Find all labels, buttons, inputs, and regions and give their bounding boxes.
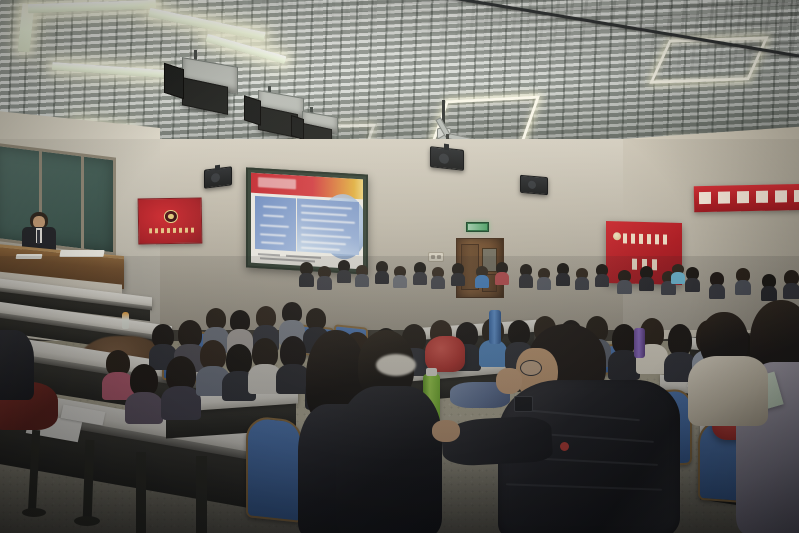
lecture-hall-photograph: 商学院 谁是投资帝 xyxy=(0,0,799,533)
stage-spotlight xyxy=(164,58,242,118)
foreground-man-in-black-puffer-jacket xyxy=(450,318,680,533)
fixed-auditorium-chair[interactable] xyxy=(246,415,302,523)
wall-mounted-loudspeaker xyxy=(430,146,464,171)
hand xyxy=(496,368,522,394)
foreground-student-dark-shoulder xyxy=(0,330,34,400)
emergency-exit-sign xyxy=(466,222,489,232)
wall-mounted-loudspeaker xyxy=(204,166,232,188)
hand xyxy=(432,420,460,442)
jacket-logo-patch xyxy=(560,442,569,451)
slogan-banner: 谁是投资帝 xyxy=(694,184,799,212)
side-flag-banner xyxy=(138,197,203,244)
desk-leg-foot xyxy=(74,516,100,526)
wristwatch xyxy=(514,396,533,412)
wall-mounted-loudspeaker xyxy=(520,175,548,195)
foreground-student-fur-collar xyxy=(340,330,436,533)
desk-leg-foot xyxy=(22,508,46,517)
desk-leg xyxy=(136,452,146,533)
slogan-banner-text-row xyxy=(699,189,799,203)
slide-table-left-column xyxy=(255,196,295,251)
slide-table-right-column xyxy=(297,199,359,255)
arm xyxy=(441,415,553,467)
eyeglasses xyxy=(520,360,542,376)
desk-leg xyxy=(196,456,207,533)
foreground-student-cream-sweater xyxy=(690,312,764,422)
